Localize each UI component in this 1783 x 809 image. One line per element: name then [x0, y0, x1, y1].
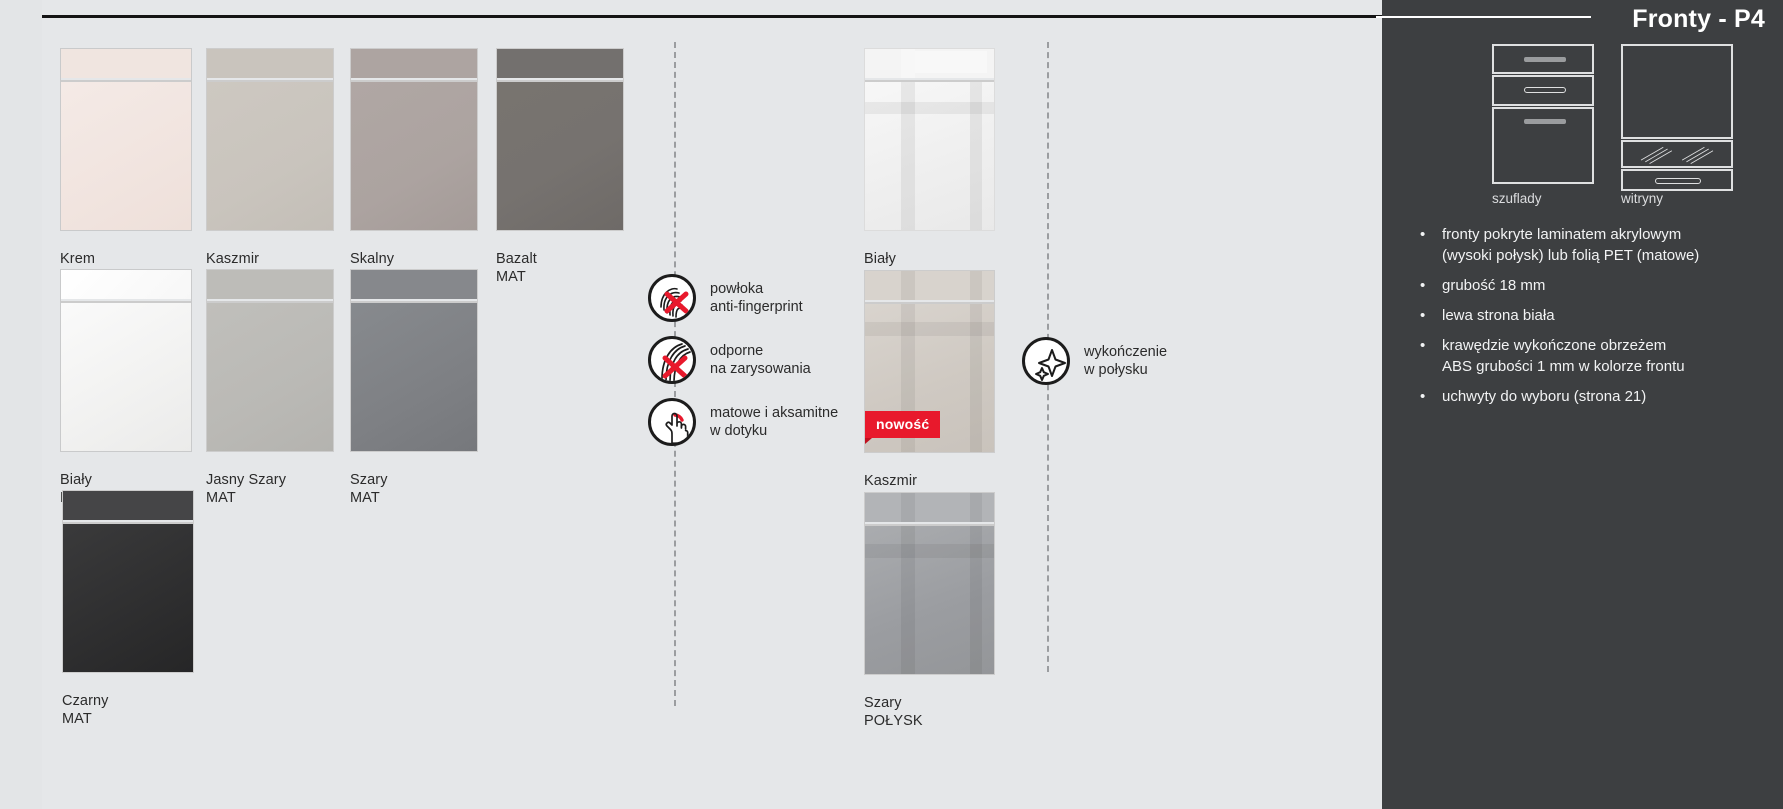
left-edge-strip — [0, 0, 42, 809]
handle-icon — [1524, 119, 1566, 124]
front-finish: MAT — [206, 491, 286, 506]
catalog-page: Krem MAT Kaszmir MAT Skalny MAT Bazalt — [0, 0, 1783, 809]
bullet-marker: • — [1420, 386, 1430, 407]
front-sample-skalny[interactable] — [350, 48, 478, 231]
front-drawer-panel — [351, 270, 477, 301]
front-sample-kaszmir[interactable] — [206, 48, 334, 231]
feature-scratch-resistant: odporne na zarysowania — [648, 336, 811, 384]
feature-label: odporne na zarysowania — [710, 342, 811, 378]
front-drawer-panel — [351, 49, 477, 80]
front-finish: POŁYSK — [864, 714, 923, 729]
bullet-text: lewa strona biała — [1442, 305, 1555, 326]
panel-title-rule — [1376, 16, 1591, 18]
bullet-marker: • — [1420, 335, 1430, 377]
top-rule-divider — [42, 15, 1382, 18]
diagram-caption-witryny: witryny — [1621, 191, 1663, 206]
front-door-panel — [207, 303, 333, 451]
front-door-panel — [207, 82, 333, 230]
front-name: Bazalt — [496, 251, 537, 267]
feature-gloss-finish: wykończenie w połysku — [1022, 337, 1167, 385]
bullet-marker: • — [1420, 305, 1430, 326]
cabinet-body — [1621, 44, 1733, 139]
front-door-panel — [351, 82, 477, 230]
bullet-text: fronty pokryte laminatem akrylowym (wyso… — [1442, 224, 1699, 266]
page-title: Fronty - P4 — [1632, 5, 1765, 34]
front-name: Kaszmir — [206, 251, 259, 267]
front-name: Szary — [350, 472, 388, 488]
front-door-panel — [351, 303, 477, 451]
diagram-caption-szuflady: szuflady — [1492, 191, 1542, 206]
drawer-unit-2 — [1492, 75, 1594, 106]
front-name: Kaszmir — [864, 473, 917, 489]
front-sample-jasny-szary[interactable] — [206, 269, 334, 452]
front-sample-szary-mat[interactable] — [350, 269, 478, 452]
bullet-text: grubość 18 mm — [1442, 275, 1545, 296]
front-sample-bialy-mat[interactable] — [60, 269, 192, 452]
list-item: • fronty pokryte laminatem akrylowym (wy… — [1420, 224, 1750, 266]
gloss-reflection — [865, 271, 994, 300]
front-finish: MAT — [350, 491, 388, 506]
list-item: • grubość 18 mm — [1420, 275, 1750, 296]
front-caption-czarny: Czarny MAT — [62, 679, 109, 741]
front-name: Szary — [864, 695, 902, 711]
badge-nowosc: nowość — [865, 411, 940, 438]
drawer-unit-1 — [1492, 44, 1594, 74]
front-drawer-panel — [63, 491, 193, 522]
front-name: Czarny — [62, 693, 109, 709]
front-name: Biały — [60, 472, 92, 488]
bottom-drawer — [1621, 169, 1733, 191]
light-content-area: Krem MAT Kaszmir MAT Skalny MAT Bazalt — [0, 0, 1382, 809]
bullet-text: krawędzie wykończone obrzeżem ABS gruboś… — [1442, 335, 1685, 377]
front-drawer-panel — [207, 49, 333, 80]
front-finish: MAT — [496, 270, 537, 285]
front-drawer-panel — [61, 270, 191, 301]
front-door-panel — [61, 303, 191, 451]
gloss-reflection — [865, 49, 994, 78]
list-item: • krawędzie wykończone obrzeżem ABS grub… — [1420, 335, 1750, 377]
front-caption-bazalt: Bazalt MAT — [496, 237, 537, 299]
front-drawer-panel — [61, 49, 191, 80]
front-name: Skalny — [350, 251, 394, 267]
front-door-panel — [61, 82, 191, 230]
front-sample-czarny[interactable] — [62, 490, 194, 673]
front-door-panel — [63, 524, 193, 672]
front-drawer-panel — [207, 270, 333, 301]
front-drawer-panel — [865, 493, 994, 524]
bullet-text: uchwyty do wyboru (strona 21) — [1442, 386, 1646, 407]
front-door-panel — [497, 82, 623, 230]
front-name: Jasny Szary — [206, 472, 286, 488]
gloss-reflection — [865, 493, 994, 522]
spec-bullet-list: • fronty pokryte laminatem akrylowym (wy… — [1420, 224, 1750, 416]
handle-icon — [1524, 57, 1566, 62]
sparkle-icon — [1022, 337, 1070, 385]
front-sample-kaszmir-polysk[interactable]: nowość — [864, 270, 995, 453]
front-drawer-panel — [865, 271, 994, 302]
fingerprint-no-icon — [648, 274, 696, 322]
front-sample-bialy-polysk[interactable] — [864, 48, 995, 231]
gloss-reflection — [865, 82, 994, 230]
bullet-marker: • — [1420, 275, 1430, 296]
front-drawer-panel — [865, 49, 994, 80]
list-item: • lewa strona biała — [1420, 305, 1750, 326]
front-caption-jasny-szary: Jasny Szary MAT — [206, 458, 286, 520]
front-sample-krem[interactable] — [60, 48, 192, 231]
front-finish: MAT — [62, 712, 109, 727]
scratch-no-icon — [648, 336, 696, 384]
gloss-reflection — [865, 526, 994, 674]
info-panel: Fronty - P4 szuflady — [1382, 0, 1783, 809]
handle-icon — [1524, 87, 1566, 93]
bullet-marker: • — [1420, 224, 1430, 266]
front-caption-szary-mat: Szary MAT — [350, 458, 388, 520]
touch-hand-icon — [648, 398, 696, 446]
feature-label: matowe i aksamitne w dotyku — [710, 404, 838, 440]
front-sample-bazalt[interactable] — [496, 48, 624, 231]
front-name: Biały — [864, 251, 896, 267]
feature-matte-velvet-touch: matowe i aksamitne w dotyku — [648, 398, 838, 446]
front-caption-szary-polysk: Szary POŁYSK — [864, 681, 923, 743]
drawer-unit-3 — [1492, 107, 1594, 184]
glass-door-section — [1621, 140, 1733, 168]
handle-icon — [1655, 178, 1701, 184]
front-name: Krem — [60, 251, 95, 267]
feature-anti-fingerprint: powłoka anti-fingerprint — [648, 274, 803, 322]
front-sample-szary-polysk[interactable] — [864, 492, 995, 675]
feature-label: powłoka anti-fingerprint — [710, 280, 803, 316]
list-item: • uchwyty do wyboru (strona 21) — [1420, 386, 1750, 407]
front-door-panel — [865, 526, 994, 674]
diagram-witryny — [1621, 44, 1733, 184]
front-drawer-panel — [497, 49, 623, 80]
front-door-panel — [865, 82, 994, 230]
feature-label: wykończenie w połysku — [1084, 343, 1167, 379]
diagram-szuflady — [1492, 44, 1594, 184]
